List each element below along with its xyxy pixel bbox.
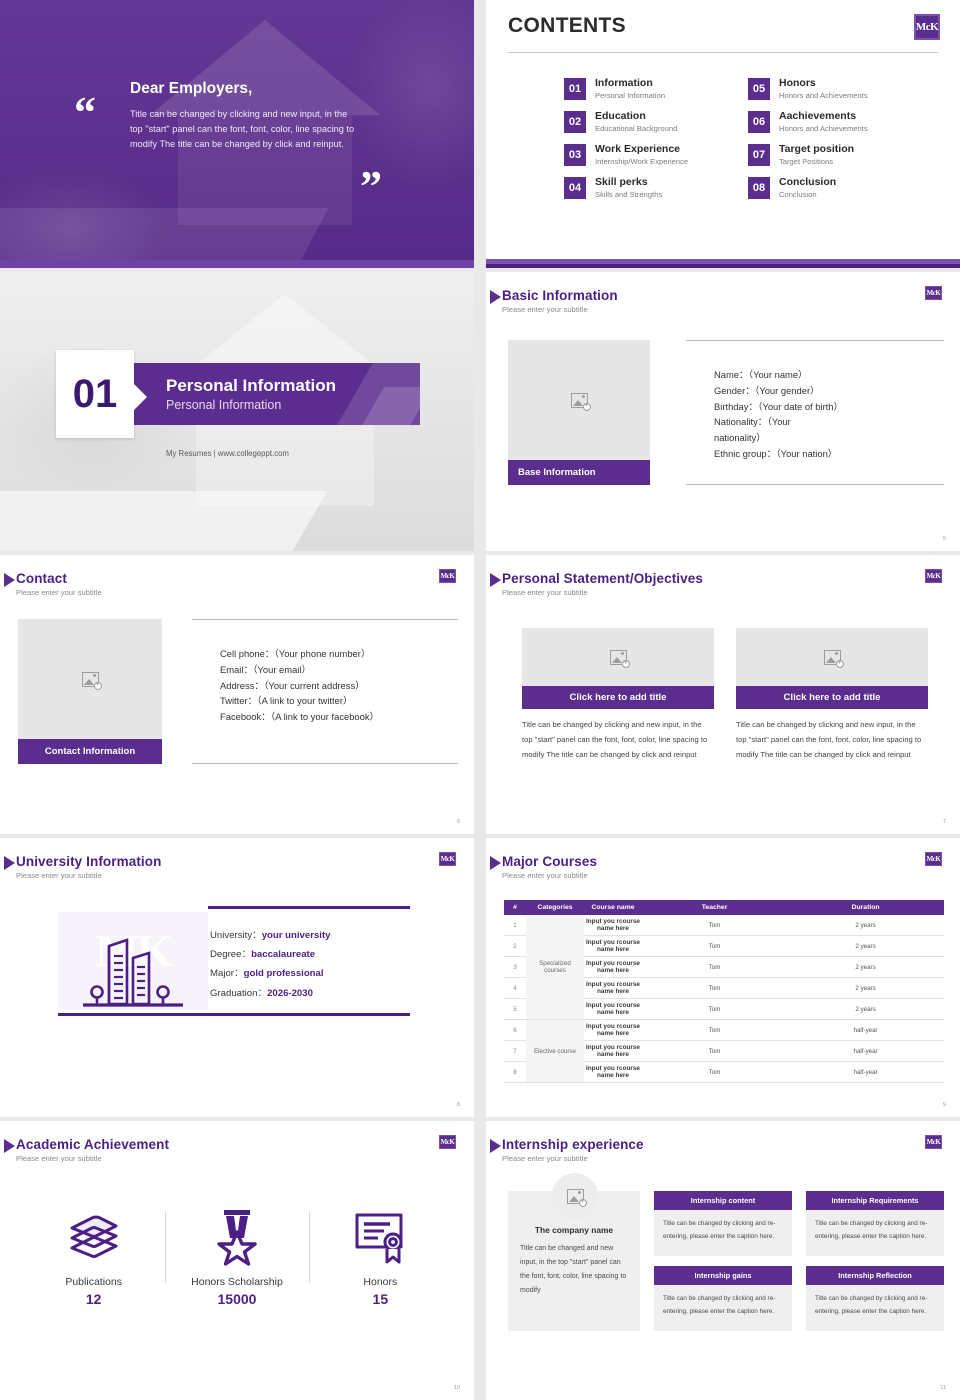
page-number: 10 [454, 1385, 460, 1391]
contact-row-twitter: Twitter：（A link to your twitter） [220, 693, 458, 709]
cell-category-elective: Elective course [526, 1020, 584, 1083]
cell-index: 6 [504, 1020, 526, 1041]
row-label: University： [210, 930, 262, 941]
row-label: Major： [210, 968, 244, 979]
toc-item-08[interactable]: 08 Conclusion Conclusion [748, 176, 910, 199]
toc-number: 07 [748, 144, 770, 166]
contact-row-address: Address：（Your current address） [220, 678, 458, 694]
card-body: Title can be changed by clicking and re-… [806, 1285, 944, 1331]
toc-number: 05 [748, 78, 770, 100]
toc-label: Target position [779, 143, 854, 155]
card-caption: Internship gains [654, 1266, 792, 1285]
slide-internship-experience[interactable]: Internship experience Please enter your … [486, 1121, 960, 1400]
slide-header: Academic Achievement Please enter your s… [16, 1137, 169, 1163]
slide-basic-information[interactable]: Basic Information Please enter your subt… [486, 272, 960, 551]
walkway-shape [0, 491, 327, 551]
slide-header: Personal Statement/Objectives Please ent… [502, 571, 703, 597]
card-internship-content[interactable]: Internship content Title can be changed … [654, 1191, 792, 1256]
page-title: Contact [16, 571, 102, 586]
image-placeholder[interactable]: + [552, 1173, 598, 1219]
info-row-ethnic: Ethnic group：（Your nation） [714, 446, 944, 462]
toc-item-04[interactable]: 04 Skill perks Skills and Strengths [564, 176, 726, 199]
slide-contact[interactable]: Contact Please enter your subtitle McK +… [0, 555, 474, 834]
stat-honors-scholarship[interactable]: Honors Scholarship 15000 [165, 1206, 308, 1307]
cell-course: Input you rcourse name here [584, 1041, 642, 1062]
statement-columns: + Click here to add title Title can be c… [522, 628, 928, 762]
cell-category-specialized: Specialized courses [526, 915, 584, 1020]
toc-item-05[interactable]: 05 Honors Honors and Achievements [748, 77, 910, 100]
add-image-icon: + [824, 650, 841, 665]
row-value: 2026-2030 [267, 988, 313, 999]
toc-number: 02 [564, 111, 586, 133]
triangle-arrow-icon [4, 1139, 15, 1153]
page-subtitle: Please enter your subtitle [502, 1154, 644, 1163]
stat-value: 15000 [171, 1291, 302, 1307]
slide-header: Basic Information Please enter your subt… [502, 288, 618, 314]
card-body: Title can be changed by clicking and re-… [654, 1210, 792, 1256]
quote-body: Title can be changed by clicking and new… [130, 107, 360, 152]
university-illustration: MK [58, 912, 208, 1010]
page-number: 8 [457, 1102, 460, 1108]
page-subtitle: Please enter your subtitle [16, 871, 161, 880]
row-value: your university [262, 930, 331, 941]
toc-item-06[interactable]: 06 Aachievements Honors and Achievements [748, 110, 910, 133]
company-description: Title can be changed and new input, in t… [520, 1242, 628, 1298]
contact-row-cellphone: Cell phone：（Your phone number） [220, 646, 458, 662]
triangle-arrow-icon [490, 856, 501, 870]
toc-sublabel: Internship/Work Experience [595, 157, 688, 166]
info-row-nationality-cont: nationality） [714, 430, 944, 446]
table-row: 1Specialized coursesInput you rcourse na… [504, 915, 944, 936]
stat-publications[interactable]: Publications 12 [22, 1206, 165, 1307]
cell-course: Input you rcourse name here [584, 978, 642, 999]
row-value: gold professional [244, 968, 324, 979]
slide-header: University Information Please enter your… [16, 854, 161, 880]
quote-block: Dear Employers, Title can be changed by … [130, 80, 360, 152]
cell-duration: 2 years [787, 915, 944, 936]
brand-logo: McK [439, 569, 456, 583]
card-caption: Internship Reflection [806, 1266, 944, 1285]
statement-body: Title can be changed by clicking and new… [736, 718, 928, 762]
contact-row-facebook: Facebook：（A link to your facebook） [220, 709, 458, 725]
quote-open-icon: “ [74, 98, 96, 129]
card-internship-requirements[interactable]: Internship Requirements Title can be cha… [806, 1191, 944, 1256]
add-title-button[interactable]: Click here to add title [522, 686, 714, 709]
stat-value: 15 [315, 1291, 446, 1307]
toc-number: 04 [564, 177, 586, 199]
cell-duration: 2 years [787, 957, 944, 978]
cell-teacher: Tom [642, 1041, 787, 1062]
toc-number: 08 [748, 177, 770, 199]
stat-honors[interactable]: Honors 15 [309, 1206, 452, 1307]
toc-sublabel: Educational Background [595, 124, 677, 133]
university-row-degree: Degree：baccalaureate [210, 945, 331, 964]
university-row-major: Major：gold professional [210, 964, 331, 983]
cell-teacher: Tom [642, 1062, 787, 1083]
section-footer: My Resumes | www.collegeppt.com [166, 449, 289, 458]
cell-course: Input you rcourse name here [584, 999, 642, 1020]
triangle-arrow-icon [490, 290, 501, 304]
cell-course: Input you rcourse name here [584, 1020, 642, 1041]
brand-logo: McK [925, 286, 942, 300]
card-internship-reflection[interactable]: Internship Reflection Title can be chang… [806, 1266, 944, 1331]
add-image-icon: + [610, 650, 627, 665]
col-course: Course name [584, 900, 642, 915]
photo-card[interactable]: + Base Information [508, 340, 650, 485]
cell-teacher: Tom [642, 957, 787, 978]
bottom-accent-bar [58, 1013, 410, 1016]
slide-major-courses[interactable]: Major Courses Please enter your subtitle… [486, 838, 960, 1117]
statement-column-2[interactable]: + Click here to add title Title can be c… [736, 628, 928, 762]
slide-cover-quote[interactable]: “ ” Dear Employers, Title can be changed… [0, 0, 474, 268]
image-placeholder[interactable]: + [18, 619, 162, 739]
page-number: 11 [940, 1385, 946, 1391]
page-number: 6 [457, 819, 460, 825]
page-subtitle: Please enter your subtitle [502, 871, 597, 880]
statement-column-1[interactable]: + Click here to add title Title can be c… [522, 628, 714, 762]
toc-sublabel: Conclusion [779, 190, 836, 199]
cell-index: 4 [504, 978, 526, 999]
row-label: Degree： [210, 949, 251, 960]
table-of-contents: 01 Information Personal Information 05 H… [564, 77, 910, 199]
cell-index: 5 [504, 999, 526, 1020]
photo-caption: Contact Information [18, 739, 162, 764]
toc-label: Information [595, 77, 665, 89]
toc-label: Skill perks [595, 176, 662, 188]
add-image-icon: + [82, 672, 99, 687]
add-image-icon: + [567, 1189, 584, 1204]
toc-number: 01 [564, 78, 586, 100]
cell-duration: 2 years [787, 999, 944, 1020]
books-icon [28, 1206, 159, 1268]
cell-duration: 2 years [787, 936, 944, 957]
cell-duration: half-year [787, 1041, 944, 1062]
section-subtitle: Personal Information [166, 398, 336, 412]
col-category: Categories [526, 900, 584, 915]
courses-table: # Categories Course name Teacher Duratio… [504, 900, 944, 1083]
brand-logo: McK [439, 852, 456, 866]
triangle-arrow-icon [490, 1139, 501, 1153]
table-header-row: # Categories Course name Teacher Duratio… [504, 900, 944, 915]
slide-header: Contact Please enter your subtitle [16, 571, 102, 597]
cell-index: 7 [504, 1041, 526, 1062]
certificate-icon [315, 1206, 446, 1268]
toc-label: Education [595, 110, 677, 122]
image-placeholder[interactable]: + [508, 340, 650, 460]
page-title: Academic Achievement [16, 1137, 169, 1152]
title-divider [508, 52, 938, 53]
toc-number: 06 [748, 111, 770, 133]
brand-logo: McK [925, 569, 942, 583]
section-title: Personal Information [166, 376, 336, 396]
card-caption: Internship content [654, 1191, 792, 1210]
table-row: 6Elective courseInput you rcourse name h… [504, 1020, 944, 1041]
quote-title: Dear Employers, [130, 80, 360, 98]
card-caption: Internship Requirements [806, 1191, 944, 1210]
toc-label: Honors [779, 77, 868, 89]
buildings-icon [81, 924, 185, 1010]
brand-logo: McK [925, 852, 942, 866]
toc-item-01[interactable]: 01 Information Personal Information [564, 77, 726, 100]
page-subtitle: Please enter your subtitle [16, 588, 102, 597]
internship-body: + The company name Title can be changed … [508, 1191, 944, 1331]
toc-sublabel: Personal Information [595, 91, 665, 100]
page-title: Basic Information [502, 288, 618, 303]
info-row-birthday: Birthday：（Your date of birth） [714, 399, 944, 415]
slide-personal-statement[interactable]: Personal Statement/Objectives Please ent… [486, 555, 960, 834]
page-subtitle: Please enter your subtitle [502, 588, 703, 597]
page-subtitle: Please enter your subtitle [16, 1154, 169, 1163]
col-teacher: Teacher [642, 900, 787, 915]
medal-icon [171, 1206, 302, 1268]
stat-label: Honors [315, 1276, 446, 1288]
row-label: Graduation： [210, 988, 267, 999]
slide-contents[interactable]: CONTENTS McK 01 Information Personal Inf… [486, 0, 960, 268]
image-placeholder[interactable]: + [736, 628, 928, 686]
cell-index: 1 [504, 915, 526, 936]
slide-deck: “ ” Dear Employers, Title can be changed… [0, 0, 960, 1400]
top-accent-bar [208, 906, 410, 909]
card-body: Title can be changed by clicking and re-… [806, 1210, 944, 1256]
row-value: baccalaureate [251, 949, 315, 960]
cell-index: 3 [504, 957, 526, 978]
col-duration: Duration [787, 900, 944, 915]
cell-course: Input you rcourse name here [584, 1062, 642, 1083]
achievement-stats: Publications 12 Honors Scholarship 150 [22, 1206, 452, 1307]
info-row-name: Name：（Your name） [714, 367, 944, 383]
triangle-arrow-icon [4, 856, 15, 870]
contact-list: Cell phone：（Your phone number） Email：（Yo… [192, 619, 458, 764]
add-title-button[interactable]: Click here to add title [736, 686, 928, 709]
toc-sublabel: Target Positions [779, 157, 854, 166]
slide-academic-achievement[interactable]: Academic Achievement Please enter your s… [0, 1121, 474, 1400]
university-box: MK [58, 906, 410, 1016]
cell-course: Input you rcourse name here [584, 957, 642, 978]
toc-label: Conclusion [779, 176, 836, 188]
stat-label: Honors Scholarship [171, 1276, 302, 1288]
info-row-nationality: Nationality：（Your [714, 414, 944, 430]
cell-teacher: Tom [642, 915, 787, 936]
stat-label: Publications [28, 1276, 159, 1288]
internship-cards: Internship content Title can be changed … [654, 1191, 944, 1331]
university-row-name: University：your university [210, 926, 331, 945]
slide-bottom-bar [486, 259, 960, 268]
toc-item-02[interactable]: 02 Education Educational Background [564, 110, 726, 133]
toc-label: Work Experience [595, 143, 688, 155]
basic-info-list: Name：（Your name） Gender：（Your gender） Bi… [686, 340, 944, 485]
photo-caption: Base Information [508, 460, 650, 485]
cell-duration: half-year [787, 1020, 944, 1041]
triangle-arrow-icon [490, 573, 501, 587]
slide-bottom-bar [0, 260, 474, 268]
university-row-graduation: Graduation：2026-2030 [210, 984, 331, 1003]
cell-index: 8 [504, 1062, 526, 1083]
statement-body: Title can be changed by clicking and new… [522, 718, 714, 762]
cell-teacher: Tom [642, 1020, 787, 1041]
slide-university-information[interactable]: University Information Please enter your… [0, 838, 474, 1117]
page-number: 5 [943, 536, 946, 542]
page-number: 9 [943, 1102, 946, 1108]
cell-index: 2 [504, 936, 526, 957]
add-image-icon: + [571, 393, 588, 408]
image-placeholder[interactable]: + [522, 628, 714, 686]
page-title: Internship experience [502, 1137, 644, 1152]
toc-label: Aachievements [779, 110, 868, 122]
stat-value: 12 [28, 1291, 159, 1307]
page-title: CONTENTS [508, 14, 938, 38]
page-title: University Information [16, 854, 161, 869]
page-number: 7 [943, 819, 946, 825]
cell-course: Input you rcourse name here [584, 915, 642, 936]
contact-row-email: Email：（Your email） [220, 662, 458, 678]
toc-sublabel: Skills and Strengths [595, 190, 662, 199]
slide-section-divider[interactable]: 01 Personal Information Personal Informa… [0, 272, 474, 551]
brand-logo: McK [439, 1135, 456, 1149]
card-body: Title can be changed by clicking and re-… [654, 1285, 792, 1331]
col-index: # [504, 900, 526, 915]
cell-teacher: Tom [642, 978, 787, 999]
photo-card[interactable]: + Contact Information [18, 619, 162, 764]
triangle-arrow-icon [4, 573, 15, 587]
quote-close-icon: ” [360, 172, 382, 203]
toc-number: 03 [564, 144, 586, 166]
card-internship-gains[interactable]: Internship gains Title can be changed by… [654, 1266, 792, 1331]
basic-info-body: + Base Information Name：（Your name） Gend… [508, 340, 944, 485]
brand-logo: McK [914, 14, 940, 40]
cell-duration: half-year [787, 1062, 944, 1083]
company-name: The company name [520, 1225, 628, 1235]
company-card[interactable]: + The company name Title can be changed … [508, 1191, 640, 1331]
university-details: University：your university Degree：baccal… [210, 926, 331, 1003]
contact-body: + Contact Information Cell phone：（Your p… [18, 619, 458, 764]
page-title: Major Courses [502, 854, 597, 869]
section-number: 01 [56, 350, 134, 438]
cell-course: Input you rcourse name here [584, 936, 642, 957]
cell-teacher: Tom [642, 999, 787, 1020]
slide-header: Internship experience Please enter your … [502, 1137, 644, 1163]
cell-teacher: Tom [642, 936, 787, 957]
brand-logo: McK [925, 1135, 942, 1149]
toc-item-07[interactable]: 07 Target position Target Positions [748, 143, 910, 166]
page-subtitle: Please enter your subtitle [502, 305, 618, 314]
walkway-shape [0, 208, 329, 268]
page-title: Personal Statement/Objectives [502, 571, 703, 586]
toc-sublabel: Honors and Achievements [779, 91, 868, 100]
cell-duration: 2 years [787, 978, 944, 999]
slide-header: Major Courses Please enter your subtitle [502, 854, 597, 880]
section-text: Personal Information Personal Informatio… [166, 376, 336, 412]
info-row-gender: Gender：（Your gender） [714, 383, 944, 399]
toc-sublabel: Honors and Achievements [779, 124, 868, 133]
toc-item-03[interactable]: 03 Work Experience Internship/Work Exper… [564, 143, 726, 166]
